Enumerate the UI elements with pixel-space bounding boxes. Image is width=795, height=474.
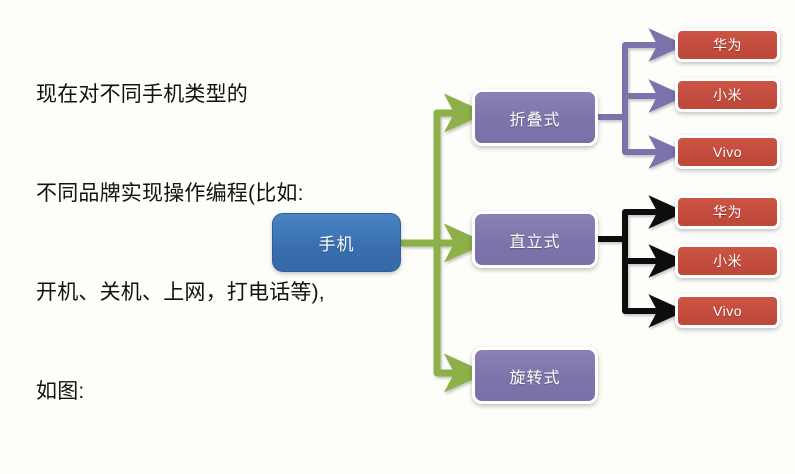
node-type-foldable[interactable]: 折叠式: [472, 89, 598, 146]
caption-line-4: 如图:: [36, 375, 436, 408]
node-type-upright[interactable]: 直立式: [472, 211, 598, 268]
node-brand-upright-vivo[interactable]: Vivo: [675, 294, 780, 328]
caption-line-3: 开机、关机、上网，打电话等),: [36, 276, 436, 309]
node-brand-upright-huawei[interactable]: 华为: [675, 195, 780, 229]
node-brand-label: 小米: [713, 251, 742, 271]
node-root-phone[interactable]: 手机: [272, 213, 401, 272]
node-brand-foldable-vivo[interactable]: Vivo: [675, 135, 780, 169]
node-brand-label: Vivo: [713, 303, 742, 319]
node-brand-label: 小米: [713, 85, 742, 105]
node-type-foldable-label: 折叠式: [509, 106, 560, 130]
node-brand-label: 华为: [713, 202, 742, 222]
caption-line-1: 现在对不同手机类型的: [36, 78, 436, 111]
diagram-canvas: 现在对不同手机类型的 不同品牌实现操作编程(比如: 开机、关机、上网，打电话等)…: [0, 0, 795, 412]
node-brand-foldable-xiaomi[interactable]: 小米: [675, 78, 780, 112]
node-type-rotating[interactable]: 旋转式: [472, 347, 598, 404]
node-brand-upright-xiaomi[interactable]: 小米: [675, 244, 780, 278]
node-brand-label: Vivo: [713, 144, 742, 160]
connector-upright-to-brands: [598, 212, 664, 311]
node-root-phone-label: 手机: [319, 230, 355, 255]
node-brand-foldable-huawei[interactable]: 华为: [675, 28, 780, 62]
node-type-rotating-label: 旋转式: [509, 364, 560, 388]
node-brand-label: 华为: [713, 35, 742, 55]
connector-foldable-to-brands: [598, 45, 664, 152]
caption-line-2: 不同品牌实现操作编程(比如:: [36, 177, 436, 210]
node-type-upright-label: 直立式: [509, 228, 560, 252]
